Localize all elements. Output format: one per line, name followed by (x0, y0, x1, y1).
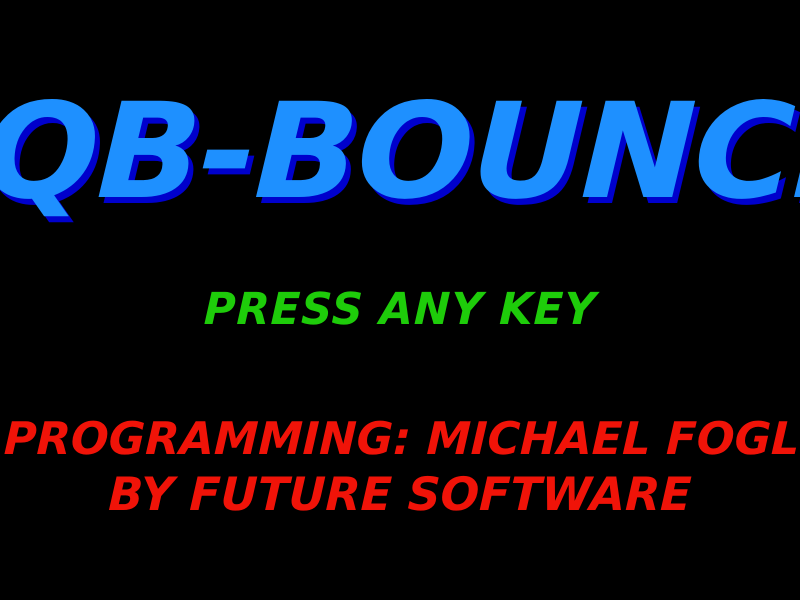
game-title-text: QB-BOUNCE (0, 86, 800, 218)
title-screen[interactable]: QB-BOUNCE QB-BOUNCE PRESS ANY KEY PROGRA… (0, 0, 800, 600)
press-any-key-prompt[interactable]: PRESS ANY KEY (0, 288, 800, 332)
credit-programming: PROGRAMMING: MICHAEL FOGLEMAN (3, 411, 797, 466)
press-any-key-text: PRESS ANY KEY (203, 288, 597, 332)
game-title: QB-BOUNCE QB-BOUNCE (0, 86, 800, 236)
credits-block: PROGRAMMING: MICHAEL FOGLEMAN BY FUTURE … (0, 411, 800, 523)
credit-publisher: BY FUTURE SOFTWARE (3, 466, 797, 523)
title-stack: QB-BOUNCE QB-BOUNCE (0, 86, 800, 218)
